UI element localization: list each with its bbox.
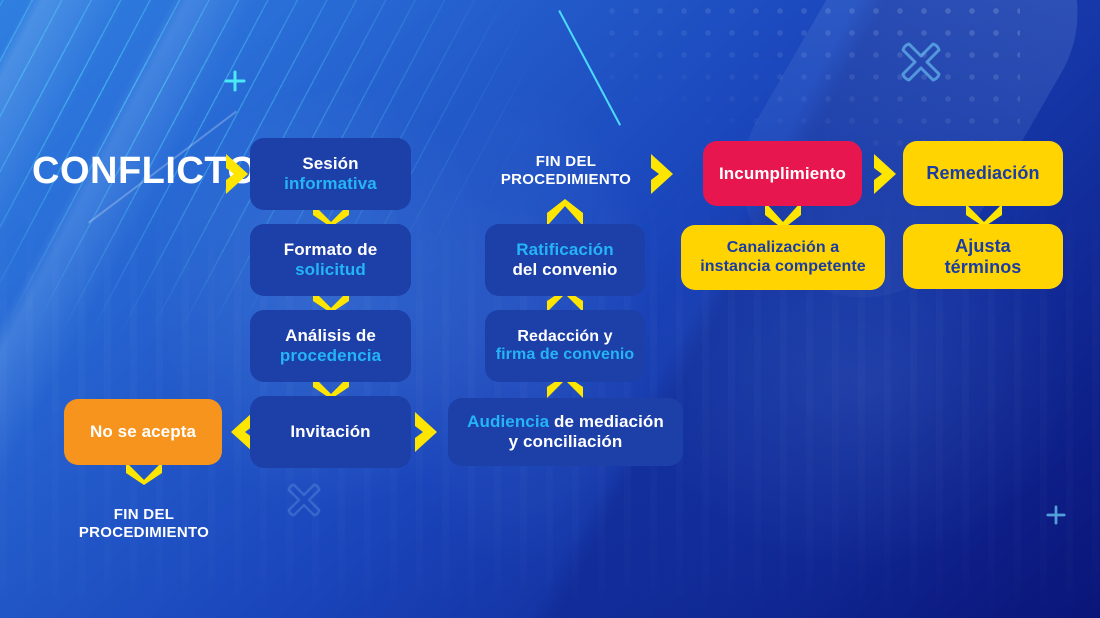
node-line-1: No se acepta [90,422,196,442]
node-line-1: Formato de [284,240,378,260]
node-line-1: Ajusta [945,236,1022,257]
arrow-incumplimiento-to-remediacion [872,152,900,196]
node-line-1: Audiencia de mediación [467,412,664,432]
node-line-2: procedencia [280,346,381,366]
node-line-1: Sesión [284,154,377,174]
node-formato-de-solicitud[interactable]: Formato de solicitud [250,224,411,296]
arrow-fin-to-incumplimiento [649,152,677,196]
x-shape-icon [282,478,326,527]
plus-icon [224,70,246,97]
plus-icon [1046,505,1066,530]
node-line-1: Remediación [926,163,1039,184]
label-line-2: PROCEDIMIENTO [54,524,234,542]
node-line-2: términos [945,257,1022,278]
node-line-1: Redacción y [496,328,635,346]
node-ratificacion-del-convenio[interactable]: Ratificación del convenio [485,224,645,296]
label-line-1: FIN DEL [495,153,637,171]
node-audiencia-de-mediacion-y-conciliacion[interactable]: Audiencia de mediación y conciliación [448,398,683,466]
diagram-canvas: CONFLICTO [0,0,1100,618]
node-sesion-informativa[interactable]: Sesión informativa [250,138,411,210]
label-line-1: FIN DEL [54,506,234,524]
arrow-conflicto-to-sesion [224,152,252,196]
node-line-1: Incumplimiento [719,164,846,184]
node-line-1: Análisis de [280,326,381,346]
background-light-streak [558,10,621,126]
node-analisis-de-procedencia[interactable]: Análisis de procedencia [250,310,411,382]
node-invitacion[interactable]: Invitación [250,396,411,468]
node-line-2: informativa [284,174,377,194]
node-line-2: y conciliación [467,432,664,452]
node-line-1: Invitación [290,422,370,442]
node-canalizacion-a-instancia-competente[interactable]: Canalización a instancia competente [681,225,885,290]
label-fin-del-procedimiento-centro: FIN DEL PROCEDIMIENTO [495,153,637,189]
node-line-2: firma de convenio [496,346,635,364]
node-line-1: Canalización a [700,239,866,257]
label-line-2: PROCEDIMIENTO [495,171,637,189]
node-line-2: instancia competente [700,258,866,276]
node-line-1-rest: de mediación [549,412,664,431]
node-no-se-acepta[interactable]: No se acepta [64,399,222,465]
arrow-invitacion-to-audiencia [413,410,441,454]
node-redaccion-y-firma-de-convenio[interactable]: Redacción y firma de convenio [485,310,645,382]
node-line-2: del convenio [512,260,617,280]
node-line-1: Ratificación [512,240,617,260]
node-remediacion[interactable]: Remediación [903,141,1063,206]
node-incumplimiento[interactable]: Incumplimiento [703,141,862,206]
node-line-2: solicitud [284,260,378,280]
label-fin-del-procedimiento-izquierda: FIN DEL PROCEDIMIENTO [54,506,234,542]
node-line-1-highlight: Audiencia [467,412,549,431]
node-ajusta-terminos[interactable]: Ajusta términos [903,224,1063,289]
